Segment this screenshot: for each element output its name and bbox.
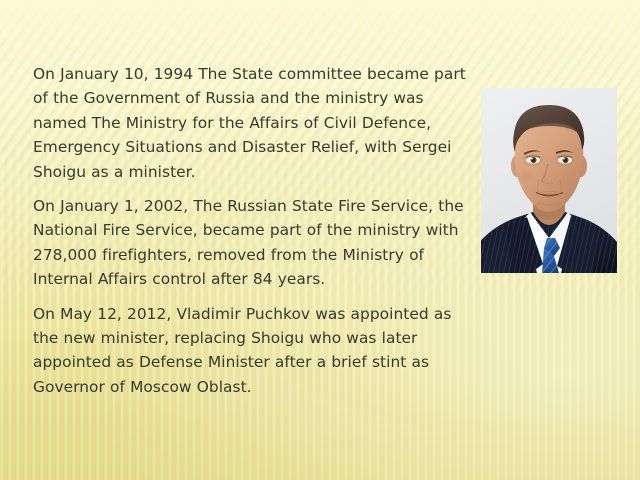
paragraph-2: On January 1, 2002, The Russian State Fi… [33,194,473,292]
slide-canvas: On January 10, 1994 The State committee … [0,0,640,480]
portrait-photo [481,88,617,273]
paragraph-1: On January 10, 1994 The State committee … [33,62,473,184]
slide-body-text: On January 10, 1994 The State committee … [33,62,473,399]
paragraph-3: On May 12, 2012, Vladimir Puchkov was ap… [33,302,473,400]
